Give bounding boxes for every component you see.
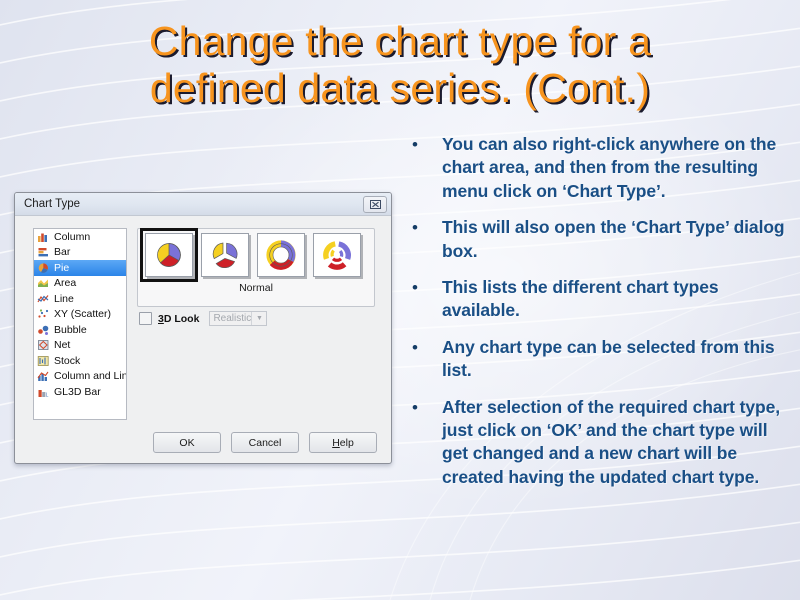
dialog-button-row: OK Cancel Help bbox=[153, 432, 377, 453]
variant-donut-exploded[interactable] bbox=[313, 233, 361, 277]
bullet-text: This will also open the ‘Chart Type’ dia… bbox=[442, 216, 792, 263]
help-accel: H bbox=[332, 437, 340, 449]
bullet-text: You can also right-click anywhere on the… bbox=[442, 133, 792, 203]
dialog-title: Chart Type bbox=[24, 198, 363, 210]
line-chart-icon bbox=[37, 293, 50, 305]
bullet-marker-icon: • bbox=[408, 216, 442, 263]
ok-button[interactable]: OK bbox=[153, 432, 221, 453]
list-item-xy-scatter[interactable]: XY (Scatter) bbox=[34, 307, 126, 323]
bubble-chart-icon bbox=[37, 324, 50, 336]
list-item-stock[interactable]: Stock bbox=[34, 353, 126, 369]
bullet-text: After selection of the required chart ty… bbox=[442, 396, 792, 490]
bullet-marker-icon: • bbox=[408, 336, 442, 383]
list-item-pie[interactable]: Pie bbox=[34, 260, 126, 276]
pie-chart-icon bbox=[37, 262, 50, 274]
help-button[interactable]: Help bbox=[309, 432, 377, 453]
variant-donut-normal[interactable] bbox=[257, 233, 305, 277]
pie-normal-icon bbox=[152, 239, 186, 271]
chevron-down-icon: ▼ bbox=[251, 312, 266, 325]
3d-look-row: 3D Look Realistic ▼ bbox=[139, 311, 267, 326]
list-item-label: Line bbox=[54, 293, 126, 305]
list-item-bar[interactable]: Bar bbox=[34, 245, 126, 261]
3d-look-label: 3D Look bbox=[158, 313, 199, 325]
area-chart-icon bbox=[37, 277, 50, 289]
chart-type-listbox[interactable]: Column Bar bbox=[33, 228, 127, 420]
list-item-label: Bar bbox=[54, 246, 126, 258]
help-rest: elp bbox=[340, 437, 354, 449]
bar-chart-icon bbox=[37, 246, 50, 258]
3d-look-style-value: Realistic bbox=[213, 313, 251, 324]
3d-look-style-select[interactable]: Realistic ▼ bbox=[209, 311, 267, 326]
list-item: • Any chart type can be selected from th… bbox=[408, 336, 792, 383]
column-chart-icon bbox=[37, 231, 50, 243]
list-item-label: Net bbox=[54, 339, 126, 351]
bullet-marker-icon: • bbox=[408, 276, 442, 323]
page-title: Change the chart type for a defined data… bbox=[60, 18, 740, 112]
list-item: • This will also open the ‘Chart Type’ d… bbox=[408, 216, 792, 263]
bullet-text: This lists the different chart types ava… bbox=[442, 276, 792, 323]
list-item-label: GL3D Bar bbox=[54, 386, 126, 398]
bullet-list: • You can also right-click anywhere on t… bbox=[408, 133, 792, 502]
list-item-label: XY (Scatter) bbox=[54, 308, 126, 320]
list-item-label: Bubble bbox=[54, 324, 126, 336]
dialog-titlebar[interactable]: Chart Type bbox=[15, 193, 391, 216]
list-item-line[interactable]: Line bbox=[34, 291, 126, 307]
variant-label: Normal bbox=[138, 282, 374, 294]
list-item-label: Area bbox=[54, 277, 126, 289]
list-item-column[interactable]: Column bbox=[34, 229, 126, 245]
donut-normal-icon bbox=[264, 239, 298, 271]
list-item: • This lists the different chart types a… bbox=[408, 276, 792, 323]
3d-look-checkbox[interactable] bbox=[139, 312, 152, 325]
list-item: • You can also right-click anywhere on t… bbox=[408, 133, 792, 203]
list-item-label: Column and Line bbox=[54, 370, 126, 382]
variant-pie-normal[interactable] bbox=[145, 233, 193, 277]
chart-type-dialog: Chart Type Column bbox=[14, 192, 392, 464]
list-item-gl3d-bar[interactable]: L GL3D Bar bbox=[34, 384, 126, 400]
column-and-line-chart-icon bbox=[37, 370, 50, 382]
list-item-label: Column bbox=[54, 231, 126, 243]
list-item-label: Pie bbox=[54, 262, 126, 274]
variant-pie-exploded[interactable] bbox=[201, 233, 249, 277]
dialog-body: Column Bar bbox=[15, 216, 391, 465]
list-item-label: Stock bbox=[54, 355, 126, 367]
bullet-marker-icon: • bbox=[408, 133, 442, 203]
close-icon[interactable] bbox=[363, 196, 387, 213]
chart-variant-gallery: Normal bbox=[137, 228, 375, 307]
variant-thumbnails bbox=[138, 233, 374, 277]
bullet-marker-icon: • bbox=[408, 396, 442, 490]
list-item: • After selection of the required chart … bbox=[408, 396, 792, 490]
pie-exploded-icon bbox=[208, 239, 242, 271]
list-item-column-and-line[interactable]: Column and Line bbox=[34, 369, 126, 385]
list-item-net[interactable]: Net bbox=[34, 338, 126, 354]
close-glyph-icon bbox=[370, 200, 381, 209]
scatter-chart-icon bbox=[37, 308, 50, 320]
stock-chart-icon bbox=[37, 355, 50, 367]
bullet-text: Any chart type can be selected from this… bbox=[442, 336, 792, 383]
net-chart-icon bbox=[37, 339, 50, 351]
cancel-button[interactable]: Cancel bbox=[231, 432, 299, 453]
slide-canvas: Change the chart type for a defined data… bbox=[0, 0, 800, 600]
3d-look-rest: D Look bbox=[164, 313, 200, 325]
donut-exploded-icon bbox=[320, 239, 354, 271]
svg-text:L: L bbox=[46, 392, 49, 398]
list-item-area[interactable]: Area bbox=[34, 276, 126, 292]
list-item-bubble[interactable]: Bubble bbox=[34, 322, 126, 338]
gl3d-bar-chart-icon: L bbox=[37, 386, 50, 398]
